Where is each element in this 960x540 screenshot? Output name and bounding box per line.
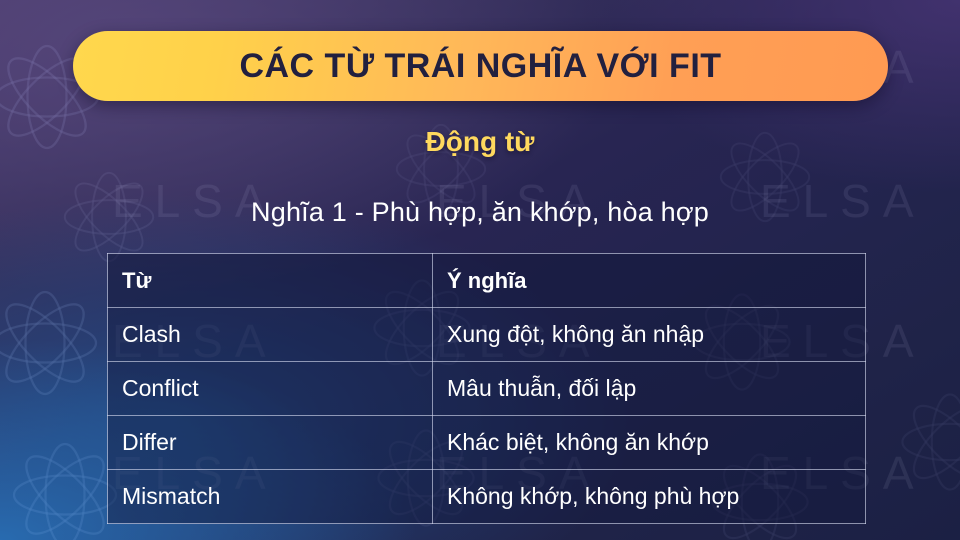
cell-word: Conflict bbox=[108, 362, 433, 416]
cell-meaning: Xung đột, không ăn nhập bbox=[433, 308, 866, 362]
column-header-meaning: Ý nghĩa bbox=[433, 254, 866, 308]
table-row: Clash Xung đột, không ăn nhập bbox=[108, 308, 866, 362]
cell-meaning: Khác biệt, không ăn khớp bbox=[433, 416, 866, 470]
page-title: CÁC TỪ TRÁI NGHĨA VỚI FIT bbox=[239, 49, 721, 83]
title-banner: CÁC TỪ TRÁI NGHĨA VỚI FIT bbox=[73, 31, 888, 101]
antonyms-table: Từ Ý nghĩa Clash Xung đột, không ăn nhập… bbox=[107, 253, 866, 524]
part-of-speech-label: Động từ bbox=[0, 125, 960, 159]
column-header-word: Từ bbox=[108, 254, 433, 308]
cell-word: Clash bbox=[108, 308, 433, 362]
table-header-row: Từ Ý nghĩa bbox=[108, 254, 866, 308]
slide-root: ELSA ELSA ELSA ELSA ELSA ELSA ELSA ELSA … bbox=[0, 0, 960, 540]
meaning-heading: Nghĩa 1 - Phù hợp, ăn khớp, hòa hợp bbox=[0, 196, 960, 228]
table-row: Mismatch Không khớp, không phù hợp bbox=[108, 470, 866, 524]
slide-content: CÁC TỪ TRÁI NGHĨA VỚI FIT Động từ Nghĩa … bbox=[0, 0, 960, 540]
cell-word: Differ bbox=[108, 416, 433, 470]
cell-meaning: Không khớp, không phù hợp bbox=[433, 470, 866, 524]
table-row: Conflict Mâu thuẫn, đối lập bbox=[108, 362, 866, 416]
cell-word: Mismatch bbox=[108, 470, 433, 524]
table-row: Differ Khác biệt, không ăn khớp bbox=[108, 416, 866, 470]
cell-meaning: Mâu thuẫn, đối lập bbox=[433, 362, 866, 416]
